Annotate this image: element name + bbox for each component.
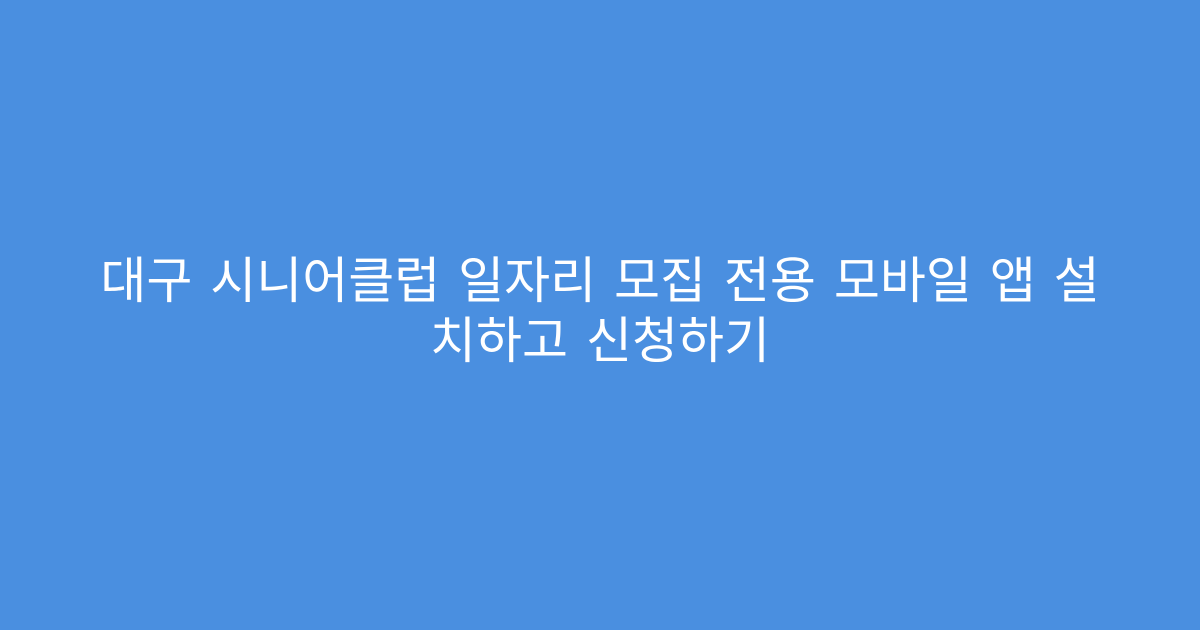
headline-container: 대구 시니어클럽 일자리 모집 전용 모바일 앱 설치하고 신청하기 (90, 251, 1110, 371)
page-title: 대구 시니어클럽 일자리 모집 전용 모바일 앱 설치하고 신청하기 (90, 251, 1110, 371)
social-share-card: 대구 시니어클럽 일자리 모집 전용 모바일 앱 설치하고 신청하기 (0, 0, 1200, 630)
